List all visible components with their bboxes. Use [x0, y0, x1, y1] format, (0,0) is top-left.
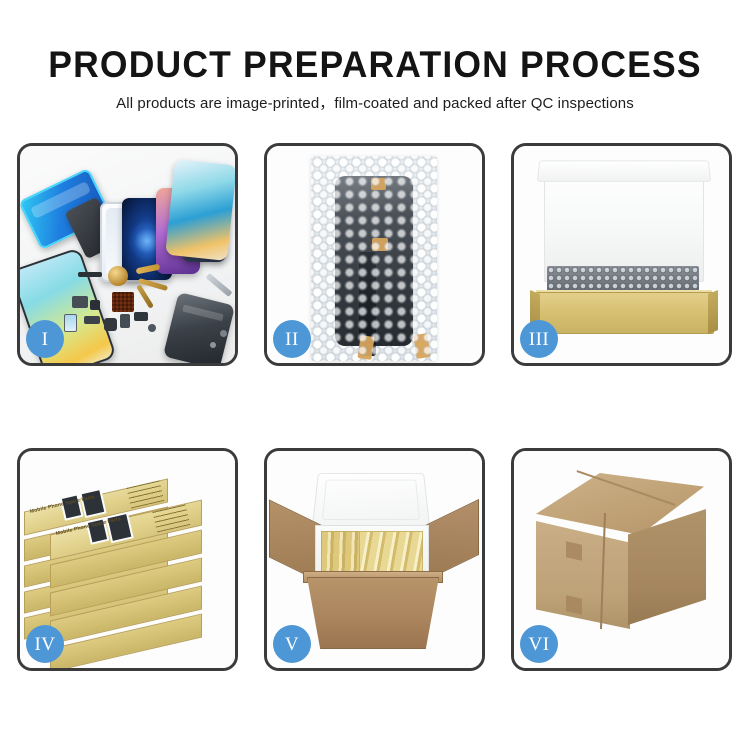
- carton-tab: [566, 595, 582, 614]
- tape-piece: [413, 333, 430, 359]
- step-badge-4: IV: [26, 625, 64, 663]
- step-panel-5: V: [264, 448, 485, 671]
- camera-module-icon: [72, 296, 88, 308]
- step-panel-1: I: [17, 143, 238, 366]
- foam-sheet-lip: [537, 160, 712, 182]
- screw-icon: [220, 330, 227, 337]
- small-part-icon: [120, 314, 130, 328]
- earpiece-speaker-icon: [78, 272, 102, 277]
- step-badge-1: I: [26, 320, 64, 358]
- page-subtitle: All products are image-printed，film-coat…: [0, 86, 750, 113]
- page-title: PRODUCT PREPARATION PROCESS: [15, 0, 735, 86]
- small-part-icon: [90, 300, 100, 310]
- flex-cable-strip: [359, 252, 376, 356]
- kraft-box-body: [536, 292, 714, 334]
- tape-piece: [372, 238, 388, 251]
- carton-left-face: [536, 521, 630, 629]
- tweezers-icon: [206, 273, 233, 297]
- carton-tab: [566, 541, 582, 560]
- small-part-icon: [134, 312, 148, 321]
- phone-teal-icon: [165, 159, 235, 261]
- page-header: PRODUCT PREPARATION PROCESS All products…: [0, 0, 750, 113]
- small-part-icon: [104, 318, 117, 331]
- step-panel-4: Mobile Phone Spare Parts Mobile Phone Sp…: [17, 448, 238, 671]
- tape-piece: [357, 335, 374, 360]
- step-panel-2: II: [264, 143, 485, 366]
- vibrator-motor-icon: [108, 266, 128, 286]
- step-badge-6: VI: [520, 625, 558, 663]
- screw-icon: [210, 342, 216, 348]
- product-preparation-process-page: PRODUCT PREPARATION PROCESS All products…: [0, 0, 750, 750]
- bubble-wrap-bag: [311, 156, 437, 361]
- battery-icon: [64, 314, 77, 332]
- step-badge-2: II: [273, 320, 311, 358]
- carton-front-panel: [307, 577, 439, 649]
- screw-icon: [148, 324, 156, 332]
- step-badge-3: III: [520, 320, 558, 358]
- phone-back-housing-icon: [163, 292, 235, 363]
- small-part-icon: [84, 316, 100, 324]
- step-badge-5: V: [273, 625, 311, 663]
- flex-cable-icon: [136, 284, 154, 309]
- tape-piece: [371, 178, 386, 190]
- foam-lid: [312, 473, 431, 528]
- step-panel-6: VI: [511, 448, 732, 671]
- process-steps-grid: I II: [17, 143, 733, 676]
- wrapped-screen-assembly: [335, 176, 413, 346]
- kraft-box-right-flap: [708, 290, 718, 334]
- logic-board-chip-icon: [112, 292, 134, 312]
- step-panel-3: III: [511, 143, 732, 366]
